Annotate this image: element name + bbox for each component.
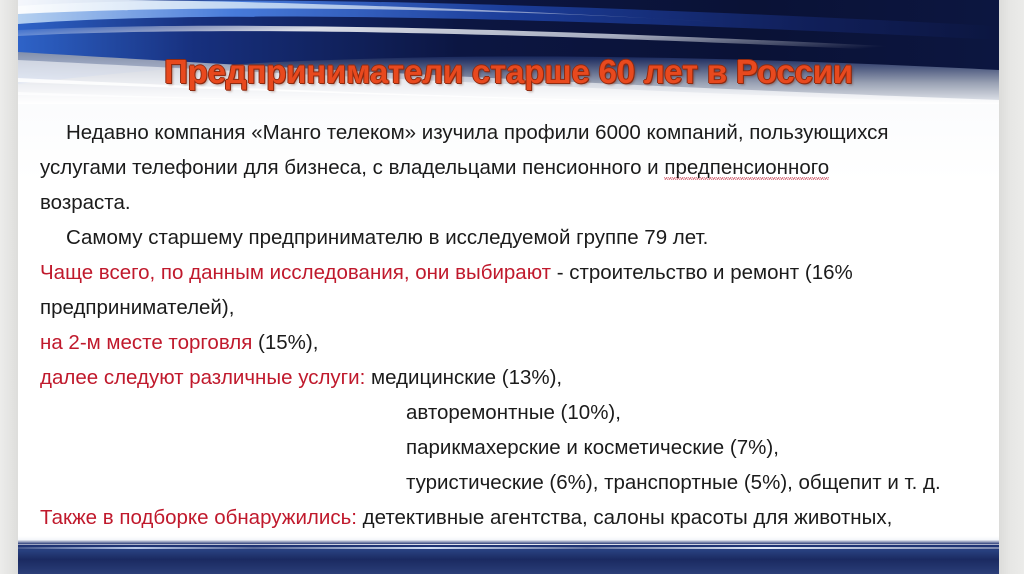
service-item-2: авторемонтные (10%), <box>406 400 996 426</box>
body-line-6: предпринимателей), <box>40 295 990 321</box>
slide-title: Предприниматели старше 60 лет в России <box>18 53 999 91</box>
slide-body: Недавно компания «Манго телеком» изучила… <box>18 104 999 536</box>
body-text: туристические (6%), транспортные (5%), о… <box>406 471 941 494</box>
misspelled-word: предпенсионного <box>664 156 829 180</box>
body-line-9: Также в подборке обнаружились: детективн… <box>40 505 990 531</box>
service-item-4: туристические (6%), транспортные (5%), о… <box>406 470 996 496</box>
body-line-2: услугами телефонии для бизнеса, с владел… <box>40 155 990 181</box>
highlight-text: на 2-м месте торговля <box>40 331 252 354</box>
footer-streak <box>18 547 999 549</box>
highlight-text: Чаще всего, по данным исследования, они … <box>40 261 551 284</box>
body-text: Недавно компания «Манго телеком» изучила… <box>66 121 888 144</box>
body-text: детективные агентства, салоны красоты дл… <box>357 506 892 529</box>
highlight-text: Также в подборке обнаружились: <box>40 506 357 529</box>
body-line-7: на 2-м месте торговля (15%), <box>40 330 990 356</box>
body-text: парикмахерские и косметические (7%), <box>406 436 779 459</box>
body-line-4: Самому старшему предпринимателю в исслед… <box>40 225 990 251</box>
body-text: возраста. <box>40 191 131 214</box>
body-text: услугами телефонии для бизнеса, с владел… <box>40 156 664 179</box>
body-text: - строительство и ремонт (16% <box>551 261 853 284</box>
body-text: авторемонтные (10%), <box>406 401 621 424</box>
highlight-text: далее следуют различные услуги: <box>40 366 365 389</box>
body-line-5: Чаще всего, по данным исследования, они … <box>40 260 990 286</box>
body-text: (15%), <box>252 331 318 354</box>
footer-highlight-line <box>18 544 999 545</box>
body-line-3: возраста. <box>40 190 990 216</box>
body-text: медицинские (13%), <box>365 366 562 389</box>
page-margin-left <box>0 0 18 574</box>
body-text: предпринимателей), <box>40 296 234 319</box>
body-line-1: Недавно компания «Манго телеком» изучила… <box>40 120 990 146</box>
page-margin-right <box>999 0 1024 574</box>
presentation-slide: Предприниматели старше 60 лет в России Н… <box>0 0 1024 574</box>
body-text: Самому старшему предпринимателю в исслед… <box>66 226 708 249</box>
header-banner: Предприниматели старше 60 лет в России <box>18 0 999 104</box>
body-line-8: далее следуют различные услуги: медицинс… <box>40 365 990 391</box>
slide-canvas: Предприниматели старше 60 лет в России Н… <box>18 0 999 574</box>
footer-band <box>18 536 999 574</box>
service-item-3: парикмахерские и косметические (7%), <box>406 435 996 461</box>
